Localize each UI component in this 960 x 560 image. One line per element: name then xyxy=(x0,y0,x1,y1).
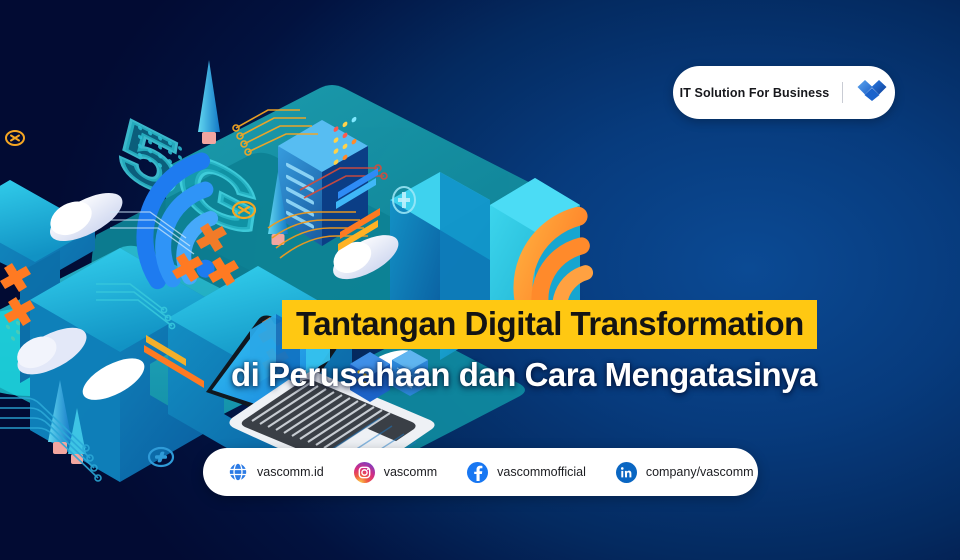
headline-line-1: Tantangan Digital Transformation xyxy=(282,300,817,349)
social-bar: vascomm.id vascomm vascommofficial xyxy=(203,448,758,496)
facebook-icon xyxy=(467,462,488,483)
social-label-instagram: vascomm xyxy=(384,465,437,479)
headline-block: Tantangan Digital Transformation di Peru… xyxy=(0,300,960,391)
social-item-website[interactable]: vascomm.id xyxy=(227,462,324,483)
cone-marker-1 xyxy=(198,60,220,144)
vascomm-diamond-logo xyxy=(856,78,888,107)
social-label-website: vascomm.id xyxy=(257,465,324,479)
social-item-instagram[interactable]: vascomm xyxy=(354,462,437,483)
badge-separator xyxy=(842,82,843,103)
badge-label: IT Solution For Business xyxy=(680,86,830,100)
x-circle-icon-2 xyxy=(6,131,24,145)
headline-line-2: di Perusahaan dan Cara Mengatasinya xyxy=(231,358,817,391)
globe-icon xyxy=(227,462,248,483)
social-item-linkedin[interactable]: company/vascomm xyxy=(616,462,754,483)
social-label-linkedin: company/vascomm xyxy=(646,465,754,479)
linkedin-icon xyxy=(616,462,637,483)
it-solution-badge[interactable]: IT Solution For Business xyxy=(673,66,895,119)
social-item-facebook[interactable]: vascommofficial xyxy=(467,462,586,483)
banner-canvas: 5G 5G xyxy=(0,0,960,560)
instagram-icon xyxy=(354,462,375,483)
social-label-facebook: vascommofficial xyxy=(497,465,586,479)
